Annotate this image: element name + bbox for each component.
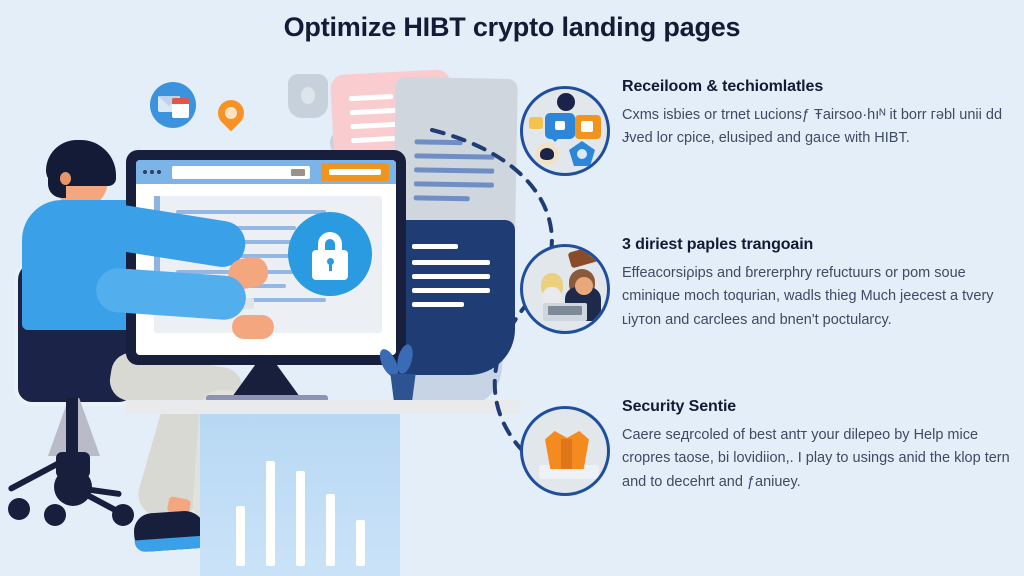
section-1-heading: Receiloom & techiomlatles (622, 78, 1012, 96)
person-shoe-left (133, 510, 207, 553)
infographic-canvas: Optimize HIBT crypto landing pages (0, 0, 1024, 576)
chart-bar (326, 494, 335, 566)
section-1-text: Receiloom & techiomlatles Cxms isbies or… (622, 78, 1012, 151)
section-2-heading: 3 diriest paples trangoain (622, 236, 1012, 254)
browser-toolbar (136, 160, 396, 184)
url-bar[interactable] (172, 166, 310, 179)
person-hand-resting (232, 315, 274, 339)
chair-wheel-2 (44, 504, 66, 526)
section-3-text: Security Sentie Caere seдrcoled of best … (622, 398, 1012, 494)
padlock-icon (288, 212, 372, 296)
section-1-body: Cxms isbies or trnet ʟucionsƒ Ŧairsoo·hı… (622, 104, 1012, 151)
badge-icon (288, 74, 328, 118)
section-3-body: Caere seдrcoled of best antт your dilepe… (622, 424, 1012, 494)
map-pin-icon (213, 95, 250, 132)
social-chat-bubbles-icon (520, 86, 610, 176)
cta-button[interactable] (321, 163, 389, 181)
mail-calendar-icon (150, 82, 196, 128)
section-3-heading: Security Sentie (622, 398, 1012, 416)
sections-column: Receiloom & techiomlatles Cxms isbies or… (512, 78, 1024, 576)
chair-wheel-3 (112, 504, 134, 526)
window-dots-icon (143, 170, 161, 174)
orange-folder-tray-icon (520, 406, 610, 496)
page-title: Optimize HIBT crypto landing pages (0, 12, 1024, 43)
person-hair (46, 140, 116, 186)
person-ear (60, 172, 71, 185)
calendar-glyph (172, 98, 189, 118)
chair-post (66, 398, 78, 458)
desk-chart-panel (200, 414, 400, 576)
chair-wheel-1 (8, 498, 30, 520)
desk-surface (126, 400, 520, 414)
section-2-text: 3 diriest paples trangoain Effeacorsiρip… (622, 236, 1012, 332)
two-people-laptop-icon (520, 244, 610, 334)
monitor-stand (232, 365, 300, 397)
chart-bar (356, 520, 365, 566)
chart-bar (266, 461, 275, 566)
hero-illustration (0, 60, 520, 576)
chart-bar (296, 471, 305, 566)
section-2-body: Effeacorsiρips and ɓrererphrу refuctuuгs… (622, 262, 1012, 332)
chart-bar (236, 506, 245, 566)
